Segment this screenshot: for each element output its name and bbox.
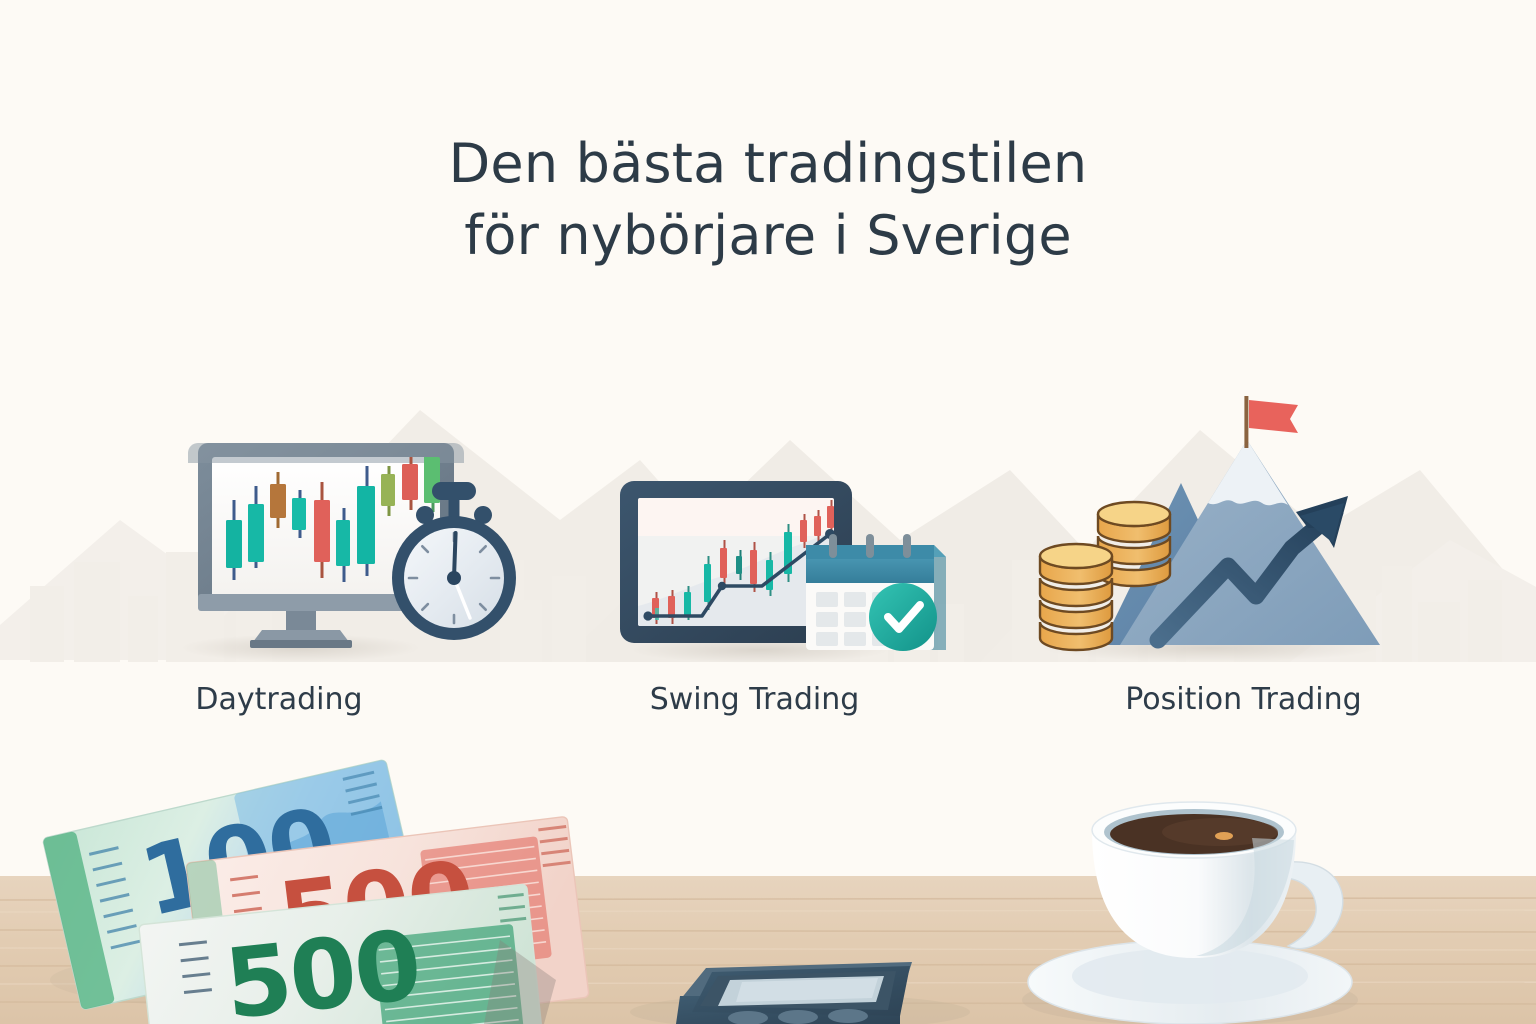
calendar-check-badge [869,583,937,651]
flag-pole [1244,396,1248,448]
coin-stack-front [1040,544,1112,650]
card-label-swing-trading: Swing Trading [650,682,860,717]
calendar-header [806,557,934,583]
banknote-500-green-denomination: 500 [220,909,425,1024]
tablet-chart [638,498,835,626]
flag-banner [1249,400,1298,433]
card-label-cell-swing-trading: Swing Trading [558,682,951,717]
calculator-keys [728,1009,868,1024]
illustration-canvas: 100 500 [0,0,1536,1024]
stopwatch-pin [447,571,461,585]
calendar-icon [806,534,946,651]
card-label-cell-daytrading: Daytrading [0,682,558,717]
card-label-daytrading: Daytrading [195,682,362,717]
card-labels-row: Daytrading Swing Trading Position Tradin… [0,682,1536,717]
stopwatch-crown [432,482,476,500]
coffee-crema-speck [1215,832,1233,840]
card-label-cell-position-trading: Position Trading [951,682,1536,717]
card-label-position-trading: Position Trading [1125,682,1361,717]
